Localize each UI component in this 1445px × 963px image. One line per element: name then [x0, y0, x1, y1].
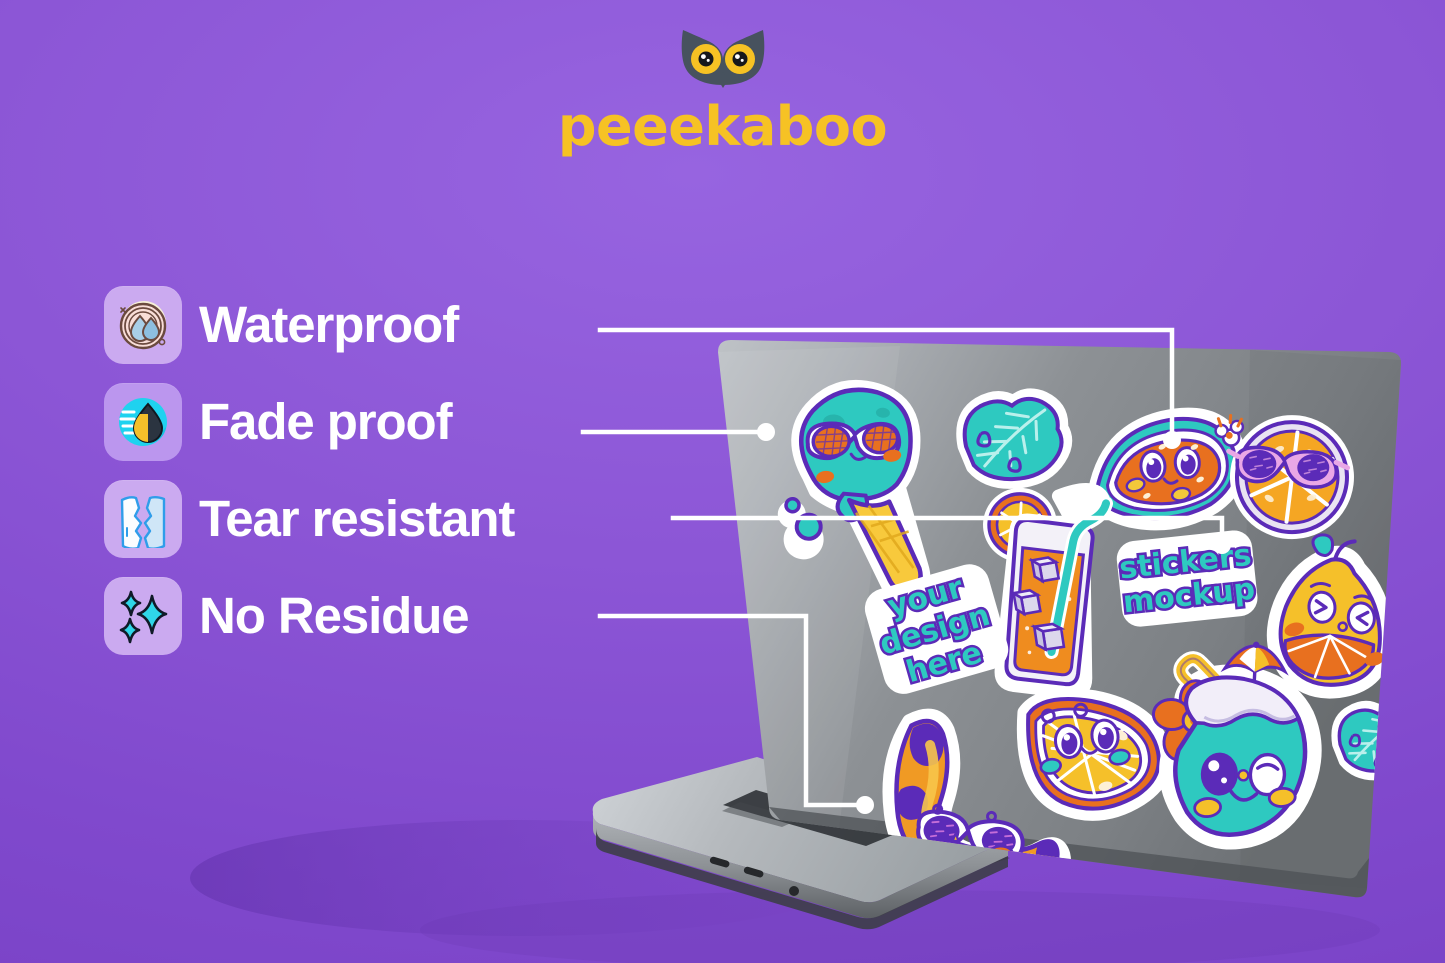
- feature-label: Tear resistant: [199, 493, 514, 544]
- sparkles-icon: [104, 577, 182, 655]
- feature-item-fade-proof[interactable]: Fade proof: [104, 380, 514, 463]
- monstera-leaf-sticker[interactable]: [960, 390, 1069, 486]
- feature-item-waterproof[interactable]: Waterproof: [104, 283, 514, 366]
- stickers-mockup-text-sticker[interactable]: stickers mockup: [1115, 529, 1259, 629]
- torn-paper-icon: [104, 480, 182, 558]
- feature-item-tear-resistant[interactable]: Tear resistant: [104, 477, 514, 560]
- feature-label: No Residue: [199, 590, 469, 641]
- poster-canvas: peeekaboo: [0, 0, 1445, 963]
- feature-list: Waterproof Fade proof: [104, 283, 514, 657]
- waterproof-droplets-icon: [104, 286, 182, 364]
- feature-item-no-residue[interactable]: No Residue: [104, 574, 514, 657]
- feature-label: Waterproof: [199, 299, 458, 350]
- feature-label: Fade proof: [199, 396, 452, 447]
- fade-proof-droplet-icon: [104, 383, 182, 461]
- monstera-leaf-small-sticker[interactable]: [1334, 701, 1423, 779]
